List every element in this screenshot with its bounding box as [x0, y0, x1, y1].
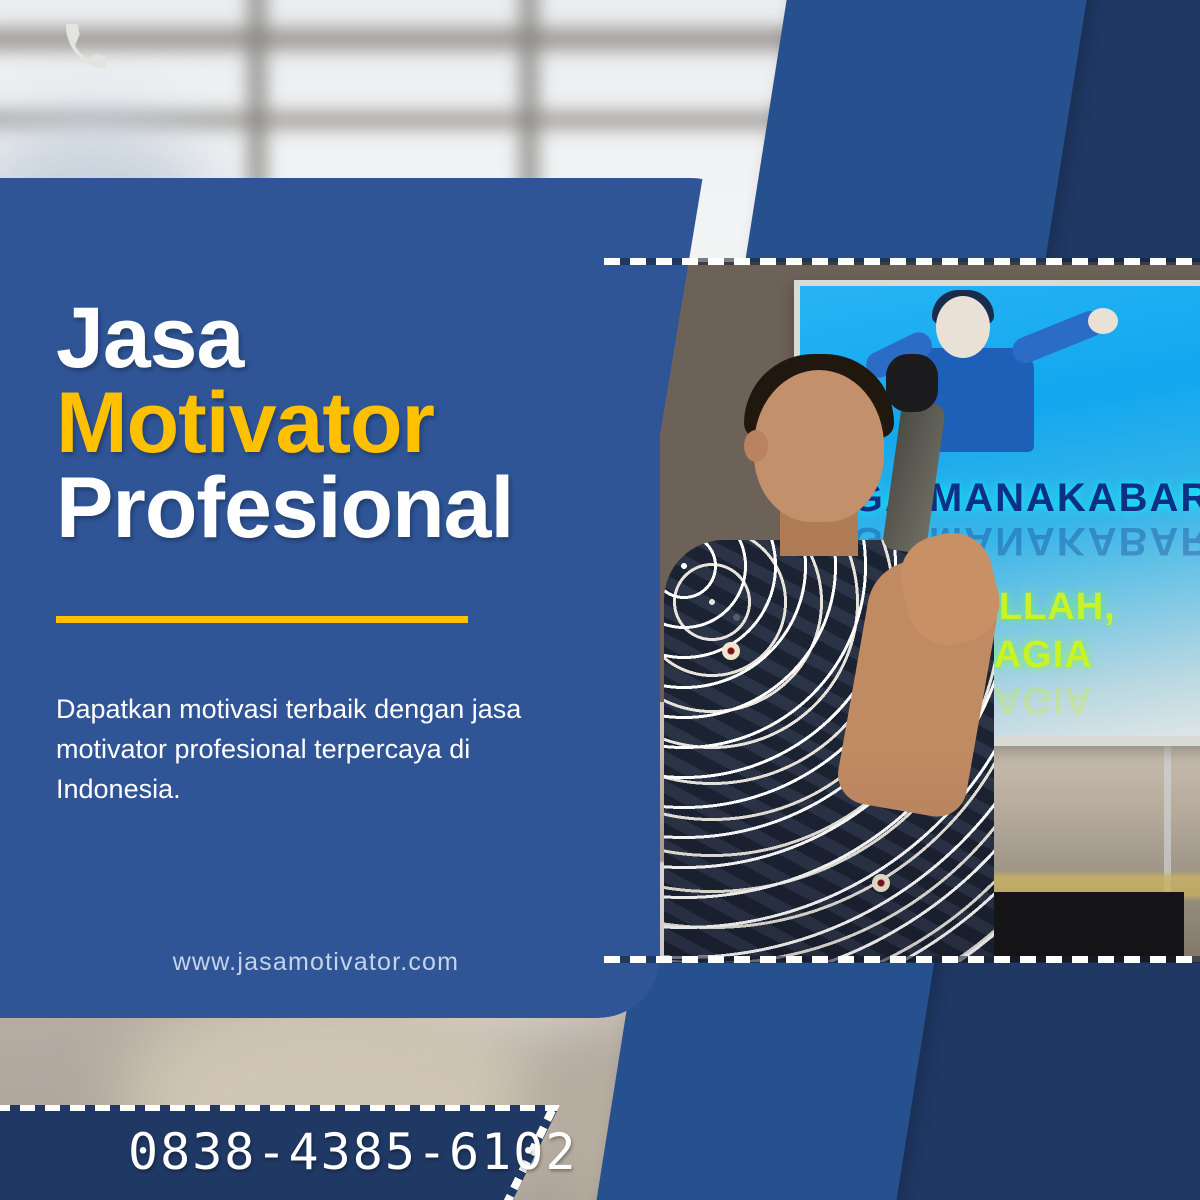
- phone-handset-icon: [62, 22, 110, 70]
- subtitle-text: Dapatkan motivasi terbaik dengan jasa mo…: [56, 690, 556, 810]
- photo-dashed-border-bottom: [604, 956, 1200, 963]
- yellow-divider-rule: [56, 616, 468, 623]
- headline-panel-content: Jasa Motivator Profesional Dapatkan moti…: [0, 178, 700, 1018]
- headline-line-3: Profesional: [56, 466, 656, 551]
- poster-canvas: BAGAIMANAKABARNYA BAGAIMANAKABARNYA ALHA…: [0, 0, 1200, 1200]
- headline-line-1: Jasa: [56, 296, 656, 381]
- phone-number[interactable]: 0838-4385-6102: [128, 1105, 577, 1200]
- page-title: Jasa Motivator Profesional: [56, 296, 656, 551]
- headline-line-2: Motivator: [56, 381, 656, 466]
- website-url[interactable]: www.jasamotivator.com: [56, 948, 576, 977]
- photo-dashed-border-top: [604, 258, 1200, 265]
